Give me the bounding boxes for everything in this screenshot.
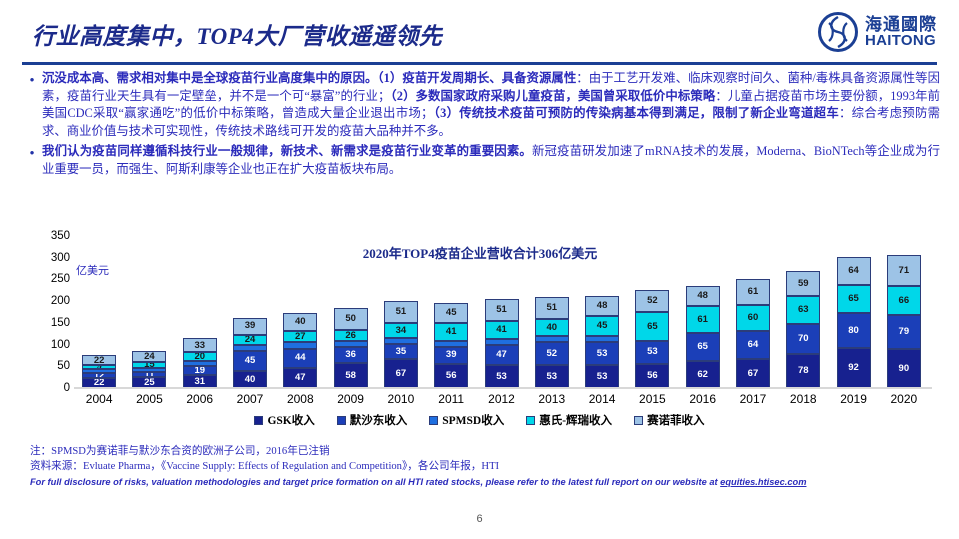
bar-value-label: 35 xyxy=(396,347,407,357)
bar-segment-sanofi: 50 xyxy=(334,308,368,330)
bar-value-label: 53 xyxy=(546,372,557,382)
bar-value-label: 92 xyxy=(848,363,859,373)
bar-value-label: 40 xyxy=(295,317,306,327)
bar-segment-sanofi: 45 xyxy=(434,303,468,323)
bullet-item: •沉没成本高、需求相对集中是全球疫苗行业高度集中的原因。（1）疫苗开发周期长、具… xyxy=(22,70,940,140)
bar-value-label: 47 xyxy=(496,350,507,360)
bar-value-label: 80 xyxy=(848,326,859,336)
bar-segment-sanofi: 51 xyxy=(535,297,569,319)
bar-segment-wyeth: 60 xyxy=(736,305,770,331)
x-axis-tick: 2010 xyxy=(375,392,427,406)
bullet-marker-icon: • xyxy=(22,70,42,88)
bar-value-label: 60 xyxy=(748,313,759,323)
bar-segment-wyeth: 41 xyxy=(485,321,519,339)
bar-column: 48455353 xyxy=(585,296,619,388)
x-axis-tick: 2017 xyxy=(727,392,779,406)
y-axis-tick: 0 xyxy=(28,382,70,394)
bar-value-label: 64 xyxy=(848,266,859,276)
slide-footer: 注：SPMSD为赛诺菲与默沙东合资的欧洲子公司，2016年已注销 资料来源：Ev… xyxy=(30,445,940,489)
title-divider xyxy=(22,62,937,65)
footnote-source: 资料来源：Evluate Pharma，《Vaccine Supply: Eff… xyxy=(30,460,940,475)
legend-swatch-icon xyxy=(337,416,346,425)
bar-value-label: 70 xyxy=(798,334,809,344)
y-axis-tick: 200 xyxy=(28,295,70,307)
bar-segment-gsk: 56 xyxy=(635,364,669,388)
bar-value-label: 27 xyxy=(295,332,306,342)
bar-segment-sanofi: 59 xyxy=(786,271,820,297)
bar-segment-msd: 79 xyxy=(887,315,921,349)
bar-value-label: 51 xyxy=(546,303,557,313)
bar-segment-wyeth: 66 xyxy=(887,286,921,315)
bar-value-label: 48 xyxy=(697,291,708,301)
stacked-bar-chart: 2020年TOP4疫苗企业营收合计306亿美元 亿美元 050100150200… xyxy=(28,236,933,411)
logo-label-cn: 海通國際 xyxy=(865,16,937,33)
bar-segment-wyeth: 61 xyxy=(686,306,720,332)
bar-column: 39244540 xyxy=(233,318,267,388)
bar-segment-wyeth: 24 xyxy=(233,335,267,345)
bar-value-label: 51 xyxy=(496,305,507,315)
bar-value-label: 19 xyxy=(194,366,205,374)
bar-value-label: 71 xyxy=(899,266,910,276)
bar-segment-wyeth: 45 xyxy=(585,316,619,336)
y-axis-tick: 50 xyxy=(28,360,70,372)
bar-column: 50263658 xyxy=(334,308,368,388)
bar-value-label: 58 xyxy=(345,371,356,381)
bar-segment-sanofi: 48 xyxy=(585,296,619,317)
bar-segment-msd: 45 xyxy=(233,351,267,371)
bar-segment-sanofi: 24 xyxy=(132,351,166,361)
disclaimer-link[interactable]: equities.htisec.com xyxy=(720,477,806,487)
bar-segment-msd: 19 xyxy=(183,366,217,374)
legend-label: SPMSD收入 xyxy=(442,412,504,428)
bar-column: 61606467 xyxy=(736,279,770,388)
bar-value-label: 67 xyxy=(748,369,759,379)
bullet-text: 我们认为疫苗同样遵循科技行业一般规律，新技术、新需求是疫苗行业变革的重要因素。新… xyxy=(42,143,940,178)
bar-segment-gsk: 40 xyxy=(233,371,267,388)
bar-segment-gsk: 67 xyxy=(384,359,418,388)
bar-value-label: 39 xyxy=(245,321,256,331)
bar-value-label: 53 xyxy=(597,372,608,382)
bar-segment-gsk: 92 xyxy=(837,348,871,388)
bar-value-label: 33 xyxy=(194,341,205,351)
bar-value-label: 59 xyxy=(798,279,809,289)
legend-label: 惠氏-辉瑞收入 xyxy=(539,412,612,428)
bar-value-label: 52 xyxy=(546,349,557,359)
bar-value-label: 62 xyxy=(697,370,708,380)
bar-segment-msd: 53 xyxy=(635,341,669,364)
bar-segment-gsk: 90 xyxy=(887,349,921,388)
bar-segment-sanofi: 61 xyxy=(736,279,770,305)
x-axis-tick: 2011 xyxy=(425,392,477,406)
bar-segment-msd: 53 xyxy=(585,342,619,365)
bullet-list: •沉没成本高、需求相对集中是全球疫苗行业高度集中的原因。（1）疫苗开发周期长、具… xyxy=(22,70,940,182)
bullet-marker-icon: • xyxy=(22,143,42,161)
bar-column: 64658092 xyxy=(837,257,871,388)
y-axis: 050100150200250300350 xyxy=(28,236,70,388)
bar-segment-sanofi: 51 xyxy=(485,299,519,321)
bar-value-label: 41 xyxy=(496,325,507,335)
x-axis-tick: 2012 xyxy=(476,392,528,406)
bar-value-label: 53 xyxy=(647,347,658,357)
bar-value-label: 56 xyxy=(647,371,658,381)
x-axis-tick: 2016 xyxy=(677,392,729,406)
bar-column: 51414753 xyxy=(485,299,519,388)
x-axis-tick: 2009 xyxy=(325,392,377,406)
legend-label: 赛诺菲收入 xyxy=(647,412,705,428)
bar-segment-gsk: 58 xyxy=(334,363,368,388)
bar-segment-sanofi: 39 xyxy=(233,318,267,335)
x-axis-tick: 2020 xyxy=(878,392,930,406)
haitong-logo-icon xyxy=(818,12,858,52)
bar-segment-sanofi: 52 xyxy=(635,290,669,313)
bar-value-label: 45 xyxy=(446,308,457,318)
x-axis-tick: 2015 xyxy=(626,392,678,406)
bar-value-label: 65 xyxy=(848,294,859,304)
slide-header: 行业高度集中，TOP4大厂营收遥遥领先 海通國際 HAITONG xyxy=(0,0,959,62)
bar-segment-gsk: 47 xyxy=(283,368,317,388)
x-axis-tick: 2008 xyxy=(274,392,326,406)
bar-value-label: 53 xyxy=(496,372,507,382)
bar-column: 40274447 xyxy=(283,313,317,388)
bar-value-label: 61 xyxy=(748,287,759,297)
bar-segment-wyeth: 65 xyxy=(837,285,871,313)
bar-segment-sanofi: 64 xyxy=(837,257,871,285)
bar-column: 59637078 xyxy=(786,271,820,388)
bar-value-label: 47 xyxy=(295,373,306,383)
bar-value-label: 53 xyxy=(597,349,608,359)
legend-item[interactable]: GSK收入 xyxy=(254,412,314,428)
bar-value-label: 45 xyxy=(245,356,256,366)
y-axis-tick: 100 xyxy=(28,339,70,351)
bar-segment-gsk: 31 xyxy=(183,375,217,388)
bar-value-label: 79 xyxy=(899,327,910,337)
bar-value-label: 20 xyxy=(194,352,205,361)
legend-swatch-icon xyxy=(526,416,535,425)
bar-column: 71667990 xyxy=(887,255,921,388)
bar-value-label: 64 xyxy=(748,340,759,350)
bar-segment-sanofi: 40 xyxy=(283,313,317,330)
bar-segment-wyeth: 20 xyxy=(183,352,217,361)
legend-swatch-icon xyxy=(254,416,263,425)
legend-item[interactable]: 赛诺菲收入 xyxy=(634,412,705,428)
legend-item[interactable]: 惠氏-辉瑞收入 xyxy=(526,412,612,428)
bar-segment-gsk: 62 xyxy=(686,361,720,388)
bar-value-label: 25 xyxy=(144,378,155,388)
bullet-run: （3）传统技术疫苗可预防的传染病基本得到满足，限制了新企业弯道超车 xyxy=(433,106,839,120)
bar-value-label: 56 xyxy=(446,371,457,381)
x-axis-tick: 2018 xyxy=(777,392,829,406)
bullet-run: （2）多数国家政府采购儿童疫苗，美国曾采取低价中标策略 xyxy=(390,89,715,103)
bar-value-label: 45 xyxy=(597,321,608,331)
bar-segment-msd: 35 xyxy=(384,344,418,359)
bar-value-label: 44 xyxy=(295,353,306,363)
page-title: 行业高度集中，TOP4大厂营收遥遥领先 xyxy=(32,17,442,51)
bar-segment-gsk: 53 xyxy=(585,365,619,388)
x-axis-tick: 2006 xyxy=(174,392,226,406)
x-axis-tick: 2007 xyxy=(224,392,276,406)
bar-value-label: 65 xyxy=(647,322,658,332)
x-axis-tick: 2004 xyxy=(73,392,125,406)
bar-value-label: 61 xyxy=(697,315,708,325)
bullet-item: •我们认为疫苗同样遵循科技行业一般规律，新技术、新需求是疫苗行业变革的重要因素。… xyxy=(22,143,940,178)
bar-segment-gsk: 53 xyxy=(535,365,569,388)
legend-item[interactable]: 默沙东收入 xyxy=(337,412,408,428)
bar-segment-gsk: 67 xyxy=(736,359,770,388)
legend-swatch-icon xyxy=(634,416,643,425)
legend-item[interactable]: SPMSD收入 xyxy=(429,412,504,428)
bar-segment-wyeth: 41 xyxy=(434,323,468,341)
bar-value-label: 41 xyxy=(446,327,457,337)
bar-value-label: 24 xyxy=(144,352,155,362)
bar-segment-msd: 44 xyxy=(283,349,317,368)
legend-swatch-icon xyxy=(429,416,438,425)
bar-column: 51405253 xyxy=(535,297,569,388)
bar-column: 2291222 xyxy=(82,355,116,388)
bar-value-label: 50 xyxy=(345,314,356,324)
x-axis-tick: 2014 xyxy=(576,392,628,406)
chart-plot-area: 2291222241511253320193139244540402744475… xyxy=(74,236,929,388)
bar-segment-msd: 52 xyxy=(535,342,569,365)
bar-segment-msd: 80 xyxy=(837,313,871,348)
bar-value-label: 34 xyxy=(396,326,407,336)
haitong-logo: 海通國際 HAITONG xyxy=(818,12,937,52)
x-axis-tick: 2005 xyxy=(123,392,175,406)
bar-value-label: 36 xyxy=(345,350,356,360)
bar-value-label: 24 xyxy=(245,335,256,345)
footnote-note: 注：SPMSD为赛诺菲与默沙东合资的欧洲子公司，2016年已注销 xyxy=(30,445,940,460)
bar-segment-sanofi: 71 xyxy=(887,255,921,286)
bar-segment-msd: 70 xyxy=(786,324,820,354)
bullet-run: 沉没成本高、需求相对集中是全球疫苗行业高度集中的原因。（1）疫苗开发周期长、具备… xyxy=(42,71,576,85)
bar-value-label: 52 xyxy=(647,296,658,306)
disclaimer-body: For full disclosure of risks, valuation … xyxy=(30,477,720,487)
bar-value-label: 22 xyxy=(94,356,105,366)
bar-value-label: 39 xyxy=(446,350,457,360)
bar-column: 51343567 xyxy=(384,301,418,388)
bar-segment-sanofi: 48 xyxy=(686,286,720,307)
bar-segment-msd: 36 xyxy=(334,347,368,363)
y-axis-tick: 350 xyxy=(28,230,70,242)
bar-segment-sanofi: 33 xyxy=(183,338,217,352)
bar-segment-wyeth: 27 xyxy=(283,331,317,343)
bar-column: 45413956 xyxy=(434,303,468,388)
disclaimer-text: For full disclosure of risks, valuation … xyxy=(30,475,940,489)
bar-value-label: 67 xyxy=(396,369,407,379)
bar-segment-msd: 47 xyxy=(485,345,519,365)
bar-value-label: 31 xyxy=(194,377,205,387)
bar-segment-gsk: 78 xyxy=(786,354,820,388)
x-axis-tick: 2013 xyxy=(526,392,578,406)
bar-segment-msd: 64 xyxy=(736,331,770,359)
bullet-text: 沉没成本高、需求相对集中是全球疫苗行业高度集中的原因。（1）疫苗开发周期长、具备… xyxy=(42,70,940,140)
bar-segment-wyeth: 63 xyxy=(786,296,820,323)
logo-label-en: HAITONG xyxy=(865,33,937,48)
y-axis-tick: 150 xyxy=(28,317,70,329)
chart-legend: GSK收入默沙东收入SPMSD收入惠氏-辉瑞收入赛诺菲收入 xyxy=(0,412,959,428)
bar-column: 52655356 xyxy=(635,290,669,388)
bar-value-label: 66 xyxy=(899,296,910,306)
bullet-run: 我们认为疫苗同样遵循科技行业一般规律，新技术、新需求是疫苗行业变革的重要因素。 xyxy=(42,144,532,158)
legend-label: GSK收入 xyxy=(267,412,314,428)
legend-label: 默沙东收入 xyxy=(350,412,408,428)
bar-value-label: 48 xyxy=(597,301,608,311)
x-axis: 2004200520062007200820092010201120122013… xyxy=(74,392,929,412)
bar-value-label: 51 xyxy=(396,307,407,317)
bar-segment-sanofi: 51 xyxy=(384,301,418,323)
bar-segment-wyeth: 34 xyxy=(384,323,418,338)
bar-value-label: 78 xyxy=(798,366,809,376)
chart-baseline xyxy=(74,387,932,389)
bar-column: 33201931 xyxy=(183,338,217,388)
bar-value-label: 40 xyxy=(245,375,256,385)
bar-value-label: 90 xyxy=(899,364,910,374)
bar-segment-gsk: 53 xyxy=(485,365,519,388)
bar-segment-wyeth: 26 xyxy=(334,330,368,341)
bar-column: 48616562 xyxy=(686,286,720,388)
bar-value-label: 63 xyxy=(798,305,809,315)
bar-value-label: 26 xyxy=(345,331,356,341)
bar-segment-msd: 39 xyxy=(434,347,468,364)
bar-value-label: 40 xyxy=(546,323,557,333)
x-axis-tick: 2019 xyxy=(828,392,880,406)
bar-value-label: 65 xyxy=(697,342,708,352)
bar-segment-gsk: 56 xyxy=(434,364,468,388)
bar-segment-wyeth: 65 xyxy=(635,312,669,340)
bar-column: 24151125 xyxy=(132,351,166,388)
bar-segment-sanofi: 22 xyxy=(82,355,116,365)
y-axis-tick: 250 xyxy=(28,273,70,285)
page-number: 6 xyxy=(0,513,959,525)
bar-segment-msd: 65 xyxy=(686,333,720,361)
bar-segment-wyeth: 40 xyxy=(535,319,569,336)
y-axis-tick: 300 xyxy=(28,252,70,264)
